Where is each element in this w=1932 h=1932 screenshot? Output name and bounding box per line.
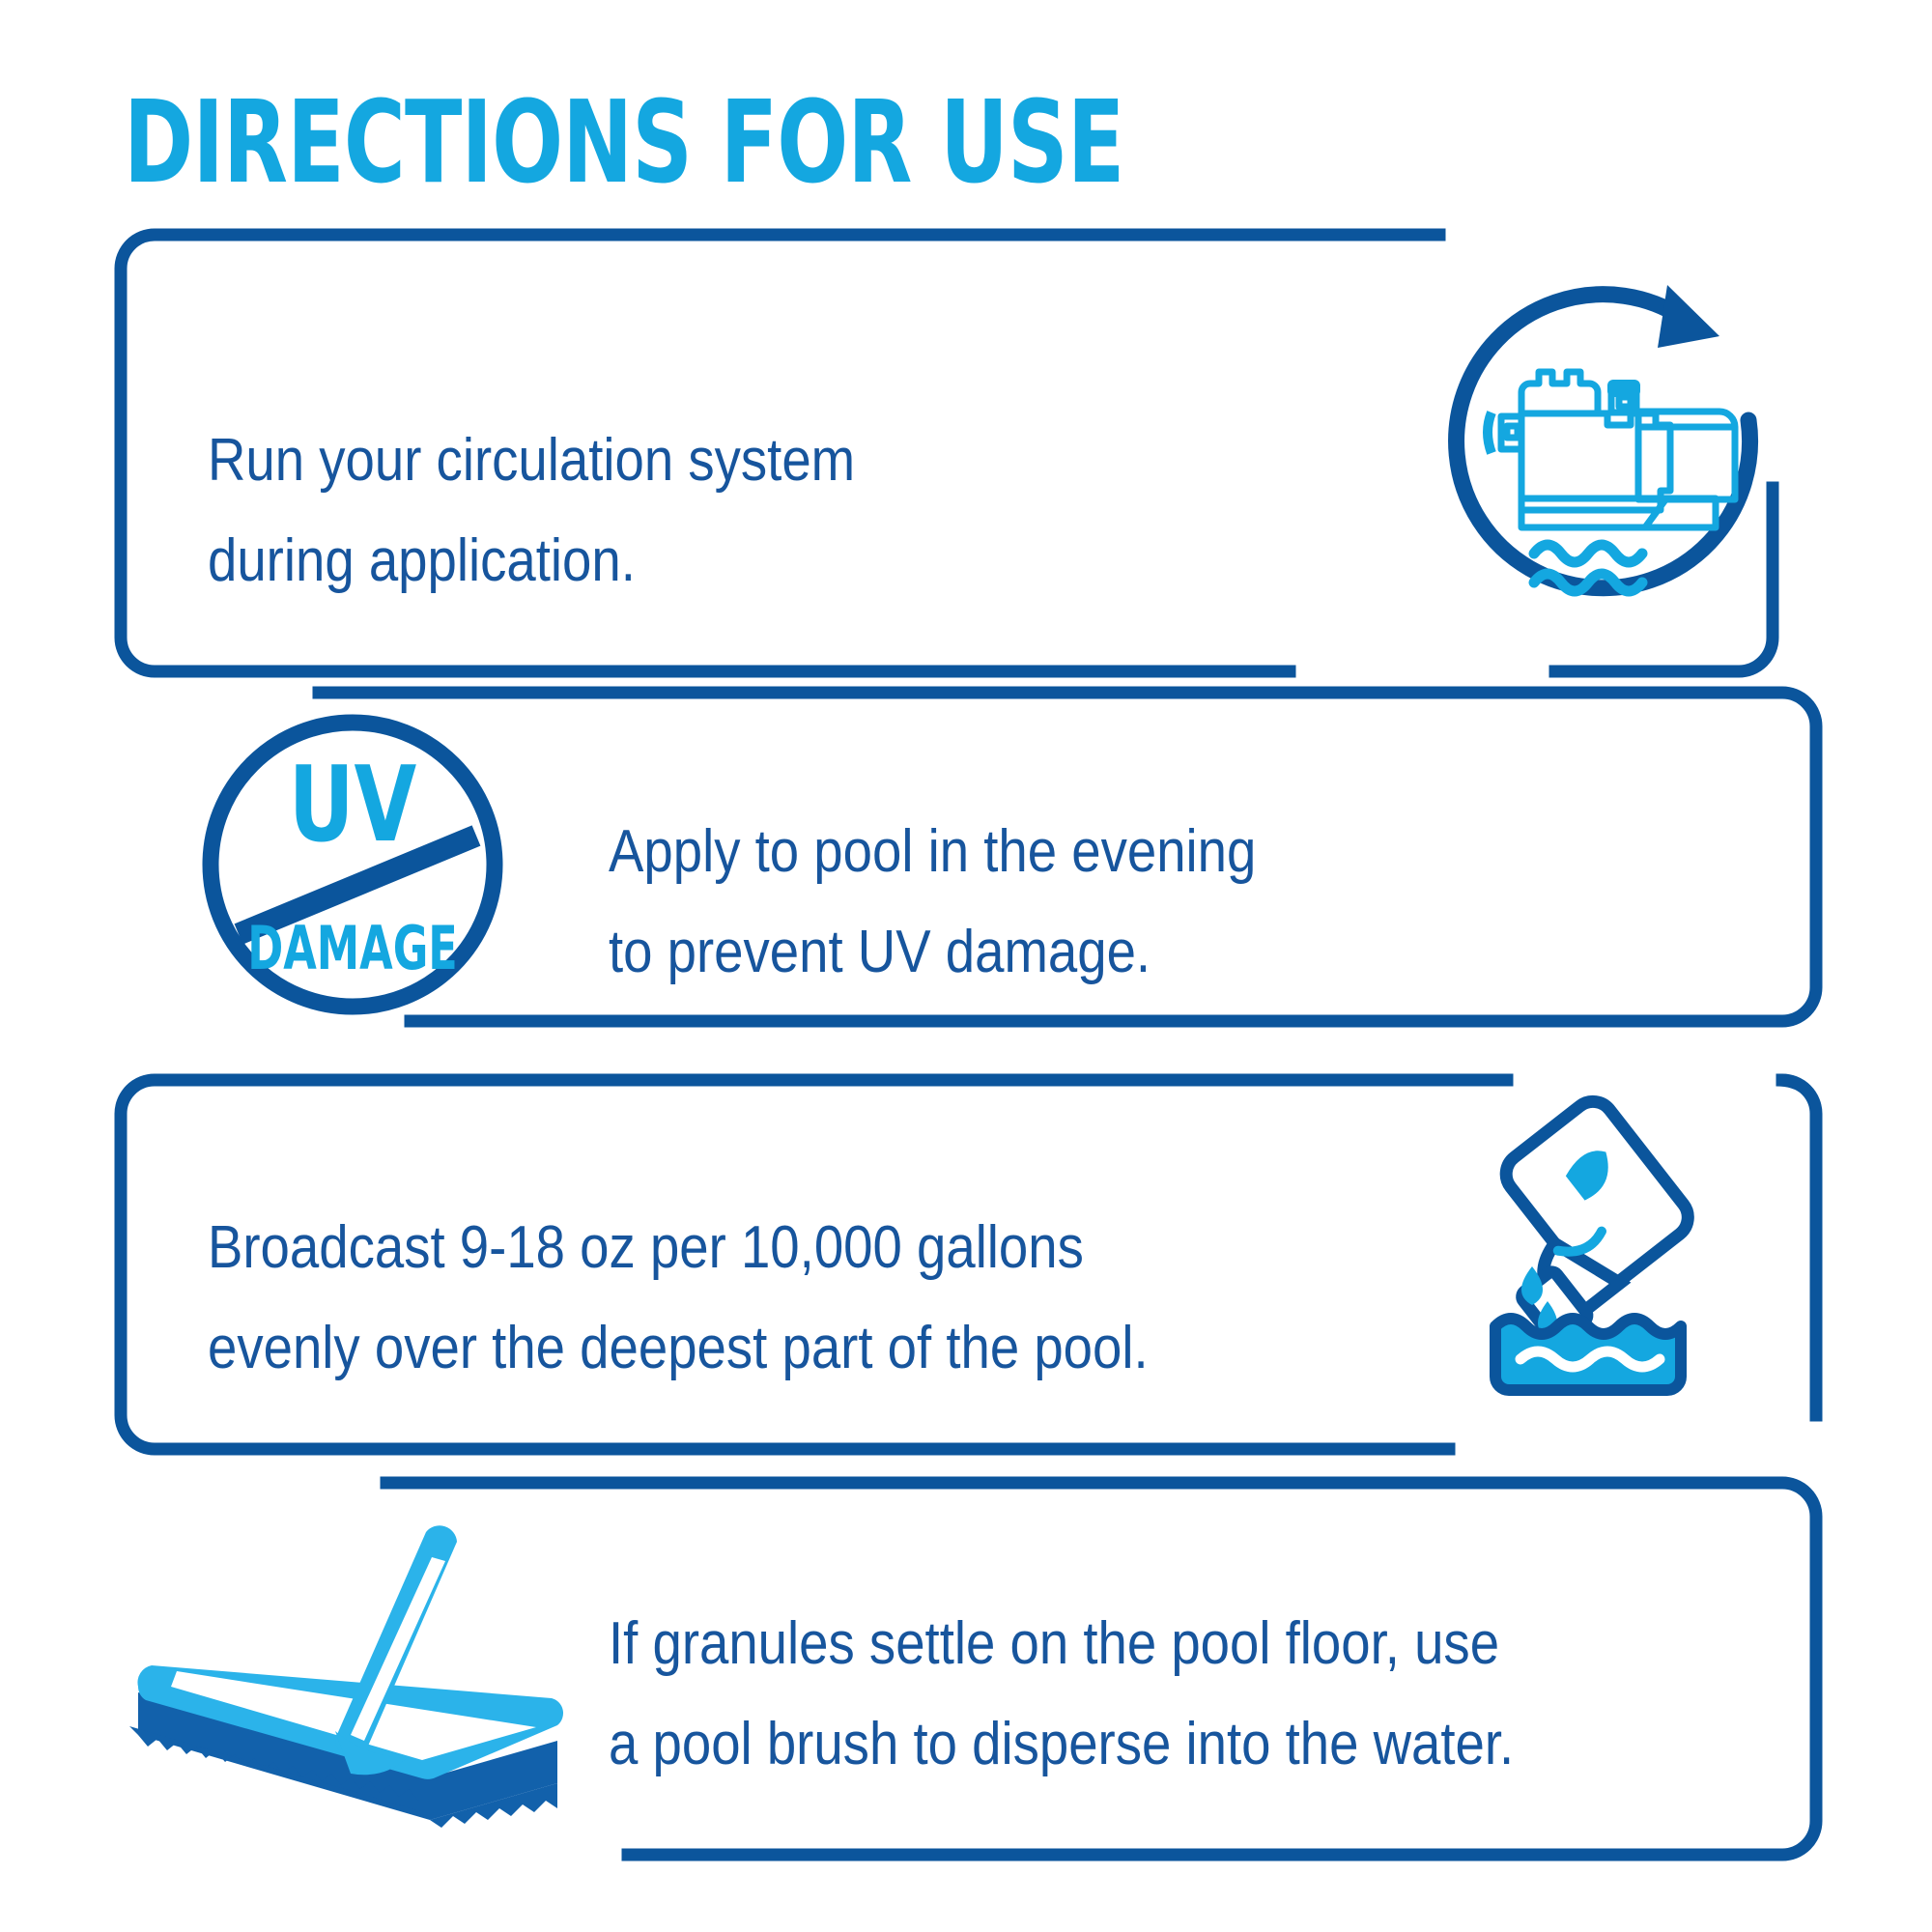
- card-circulation-text: Run your circulation system during appli…: [208, 411, 855, 611]
- pool-brush-icon: [121, 1488, 575, 1864]
- no-uv-damage-icon: UV DAMAGE: [198, 710, 507, 1019]
- card-dosage-text: Broadcast 9-18 oz per 10,000 gallons eve…: [208, 1198, 1149, 1399]
- page-title: DIRECTIONS FOR USE: [124, 85, 1124, 199]
- card-brush-text: If granules settle on the pool floor, us…: [609, 1594, 1514, 1795]
- card-dosage-outline-right: [1782, 1080, 1816, 1415]
- pouring-bottle-icon: [1439, 1087, 1758, 1406]
- badge-bottom-label: DAMAGE: [247, 915, 458, 984]
- badge-top-label: UV: [289, 744, 417, 865]
- circulation-pump-icon: [1430, 275, 1777, 623]
- card-uv-text: Apply to pool in the evening to prevent …: [609, 802, 1256, 1003]
- infographic-root: DIRECTIONS FOR USE Run your circulation …: [0, 0, 1932, 1932]
